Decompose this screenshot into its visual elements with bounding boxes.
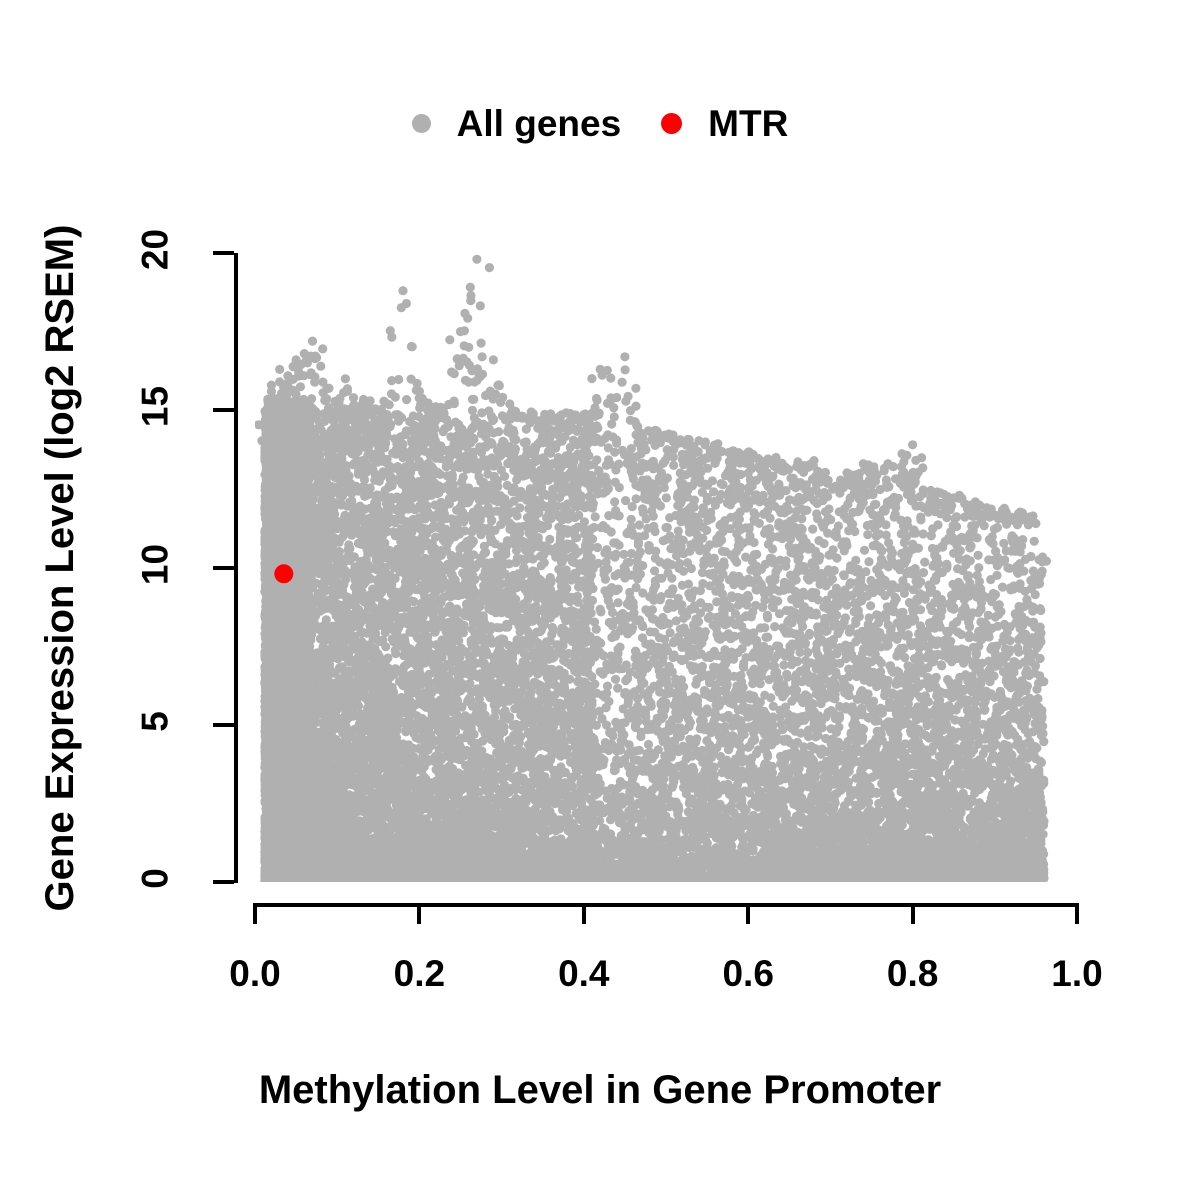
legend-item-all-genes: All genes [412, 105, 622, 142]
legend-marker-mtr-icon [661, 113, 682, 134]
data-point [431, 533, 440, 542]
data-point [549, 626, 558, 635]
legend-label-mtr: MTR [708, 105, 788, 142]
legend-marker-all-genes-icon [412, 114, 431, 133]
data-point [459, 473, 468, 482]
data-point [479, 615, 488, 624]
data-point [474, 472, 483, 481]
data-point [562, 616, 571, 625]
chart-legend: All genes MTR [0, 105, 1200, 142]
scatter-plot [255, 253, 1077, 882]
data-point [436, 647, 445, 656]
legend-item-mtr: MTR [661, 105, 788, 142]
plot-area [255, 253, 1077, 882]
chart-canvas: All genes MTR 05101520 0.00.20.40.60.81.… [0, 0, 1200, 1200]
data-point [554, 453, 563, 462]
legend-label-all-genes: All genes [457, 105, 622, 142]
data-point [393, 410, 402, 419]
